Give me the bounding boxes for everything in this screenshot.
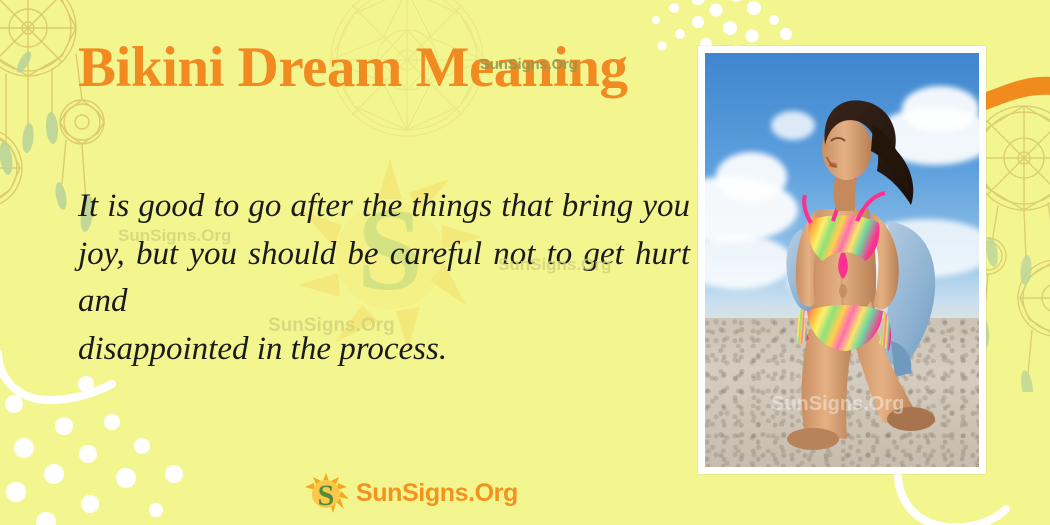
footer-logo-text: SunSigns.Org	[356, 479, 518, 508]
page-title: Bikini Dream Meaning	[78, 38, 698, 97]
photo-watermark: SunSigns.Org	[771, 393, 904, 416]
white-dots-cluster-bottom-icon	[0, 370, 204, 525]
beach-photo: SunSigns.Org	[705, 53, 979, 467]
footer-logo[interactable]: S SunSigns.Org	[303, 473, 518, 513]
quote-last-line: disappointed in the process.	[78, 326, 690, 374]
quote-text: It is good to go after the things that b…	[78, 183, 690, 373]
photo-frame: SunSigns.Org	[698, 46, 986, 474]
logo-monogram: S	[318, 479, 335, 512]
white-swoosh-bottom-icon	[890, 465, 1010, 525]
title-block: Bikini Dream Meaning	[78, 38, 698, 97]
sun-logo-icon: S	[303, 473, 349, 513]
quote-body: It is good to go after the things that b…	[78, 188, 690, 319]
title-watermark: SunSigns.Org	[480, 56, 578, 73]
poster-canvas: S	[0, 0, 1050, 525]
